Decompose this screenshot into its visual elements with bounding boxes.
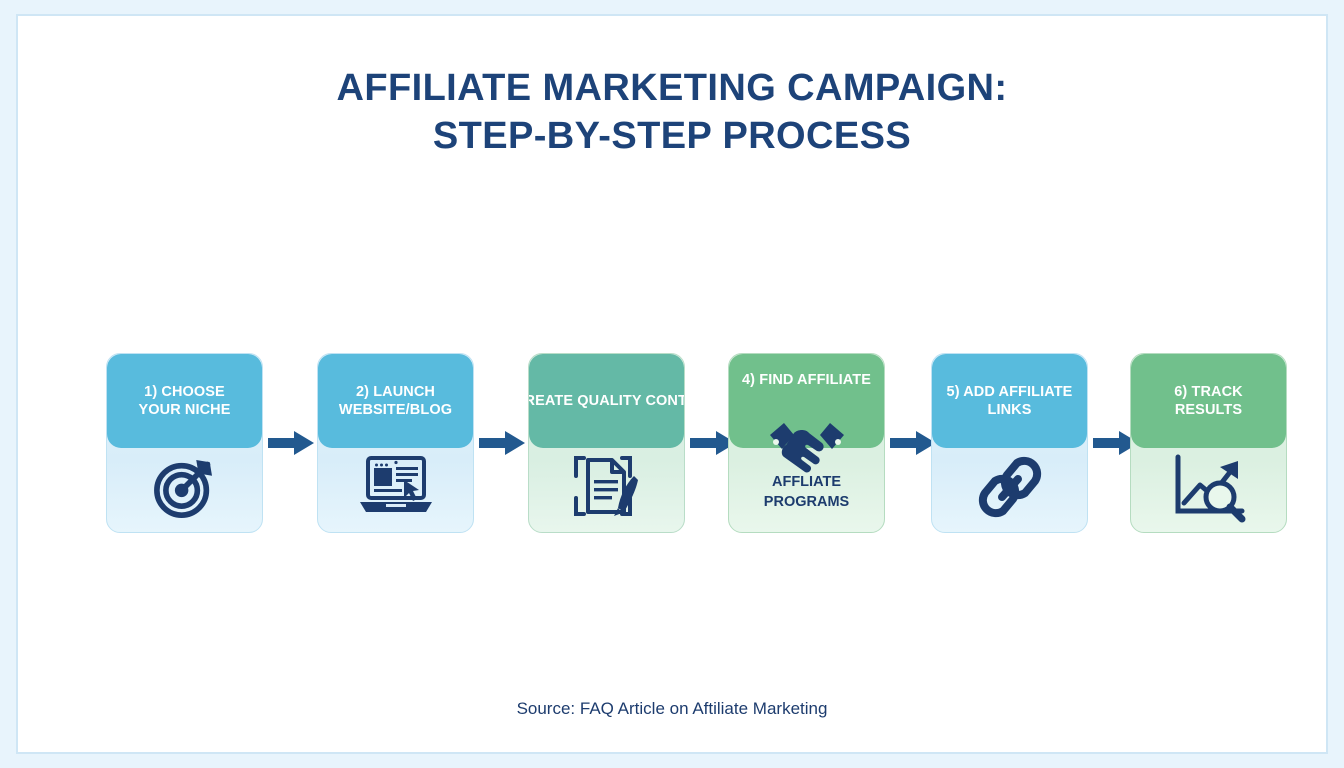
- step-card-5[interactable]: 5) ADD AFFILIATE LINKS: [931, 353, 1088, 533]
- step-card-2[interactable]: 2) LAUNCH WEBSITE/BLOG: [317, 353, 474, 533]
- page-title: AFFILIATE MARKETING CAMPAIGN: STEP-BY-ST…: [18, 64, 1326, 160]
- growth-chart-magnifier-icon: [1131, 446, 1286, 528]
- title-line-2: STEP-BY-STEP PROCESS: [18, 112, 1326, 160]
- title-line-1: AFFILIATE MARKETING CAMPAIGN:: [18, 64, 1326, 112]
- infographic-canvas: AFFILIATE MARKETING CAMPAIGN: STEP-BY-ST…: [0, 0, 1344, 768]
- source-caption: Source: FAQ Article on Aftiliate Marketi…: [18, 699, 1326, 719]
- chain-link-icon: [932, 446, 1087, 528]
- infographic-panel: AFFILIATE MARKETING CAMPAIGN: STEP-BY-ST…: [16, 14, 1328, 754]
- process-flow: 1) CHOOSE YOUR NICHE: [18, 353, 1326, 535]
- step-card-6[interactable]: 6) TRACK RESULTS: [1130, 353, 1287, 533]
- step-3-header: 3) CREATE QUALITY CONTENT: [529, 354, 684, 448]
- step-5-header: 5) ADD AFFILIATE LINKS: [932, 354, 1087, 448]
- step-5-label: 5) ADD AFFILIATE LINKS: [947, 383, 1073, 419]
- document-quill-icon: [529, 446, 684, 528]
- step-card-1[interactable]: 1) CHOOSE YOUR NICHE: [106, 353, 263, 533]
- step-card-3[interactable]: 3) CREATE QUALITY CONTENT: [528, 353, 685, 533]
- laptop-browser-cursor-icon: [318, 446, 473, 528]
- step-6-header: 6) TRACK RESULTS: [1131, 354, 1286, 448]
- step-1-header: 1) CHOOSE YOUR NICHE: [107, 354, 262, 448]
- step-6-label: 6) TRACK RESULTS: [1174, 383, 1242, 419]
- step-2-header: 2) LAUNCH WEBSITE/BLOG: [318, 354, 473, 448]
- step-1-label: 1) CHOOSE YOUR NICHE: [138, 383, 230, 419]
- step-card-4[interactable]: 4) FIND AFFILIATE AFFLIATE PROGRAMS: [728, 353, 885, 533]
- target-arrow-icon: [107, 446, 262, 528]
- step-4-label: 4) FIND AFFILIATE: [742, 371, 871, 389]
- step-3-label: 3) CREATE QUALITY CONTENT: [528, 392, 685, 410]
- step-2-label: 2) LAUNCH WEBSITE/BLOG: [339, 383, 452, 419]
- step-4-subtext: AFFLIATE PROGRAMS: [729, 472, 884, 512]
- arrow-right-icon: [268, 429, 316, 457]
- arrow-right-icon: [479, 429, 527, 457]
